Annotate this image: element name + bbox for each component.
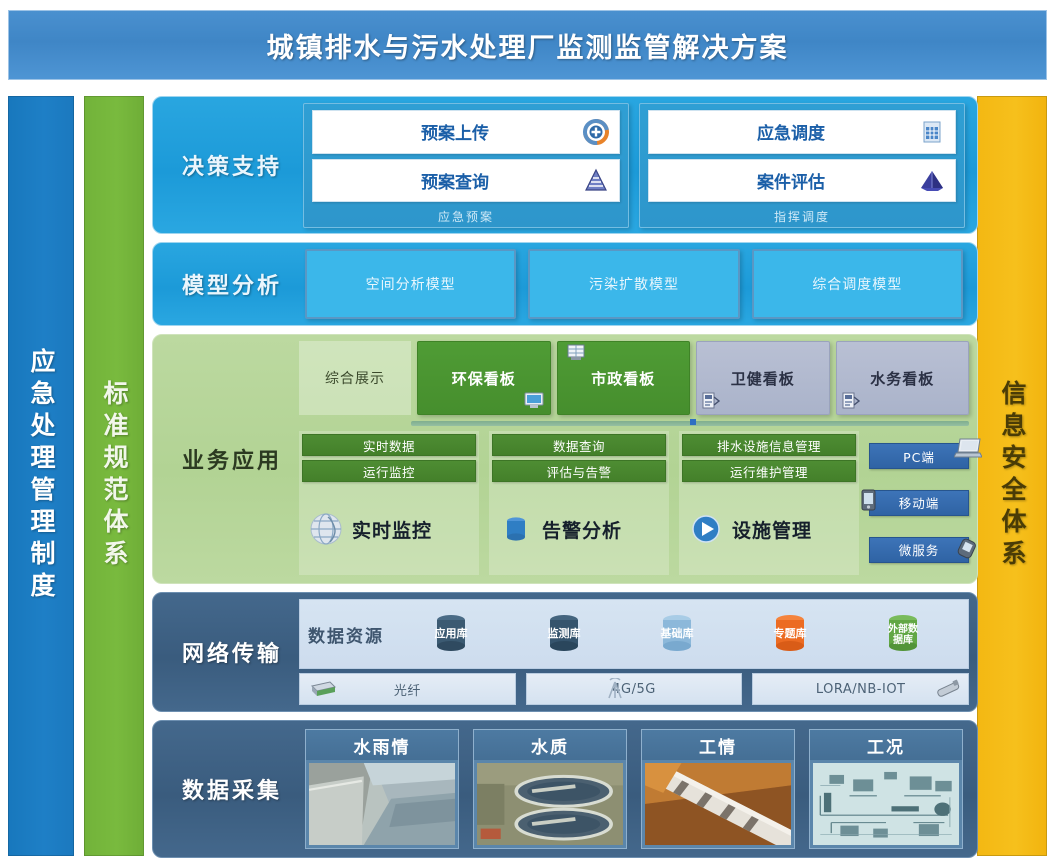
- dark-pyramid-icon: [919, 167, 945, 193]
- layer-business-application: 业务应用 综合展示 环保看板: [152, 334, 978, 584]
- business-feature-facility-management-label: 设施管理: [732, 516, 812, 543]
- decision-group-emergency-plan: 预案上传 预案查询: [303, 103, 629, 228]
- terminal-pc[interactable]: PC端: [869, 443, 969, 469]
- data-card-works-label: 工情: [642, 730, 794, 760]
- scada-diagram-photo: [813, 763, 959, 845]
- svg-text:外部数: 外部数: [887, 622, 919, 635]
- model-box-pollution-diffusion[interactable]: 污染扩散模型: [528, 249, 739, 319]
- database-basic[interactable]: 基础库: [651, 608, 703, 660]
- business-feature-realtime-monitoring[interactable]: 实时监控: [302, 486, 476, 572]
- layer-stack: 决策支持 预案上传: [152, 96, 978, 858]
- model-box-integrated-dispatch[interactable]: 综合调度模型: [752, 249, 963, 319]
- data-card-water-quality-label: 水质: [474, 730, 626, 760]
- data-card-conditions[interactable]: 工况: [809, 729, 963, 849]
- sidebar-emergency-management: 应急处理管理制度: [8, 96, 74, 856]
- business-feature-realtime-monitoring-label: 实时监控: [352, 516, 432, 543]
- board-municipal-label: 市政看板: [591, 368, 655, 389]
- decision-item-case-assessment[interactable]: 案件评估: [648, 159, 956, 203]
- business-feature-facility-management[interactable]: 设施管理: [682, 486, 856, 572]
- terminal-mobile[interactable]: 移动端: [869, 490, 969, 516]
- board-environment-label: 环保看板: [452, 368, 516, 389]
- database-monitoring[interactable]: 监测库: [538, 608, 590, 660]
- layer-data-label: 数据采集: [169, 721, 295, 857]
- layer-decision-support: 决策支持 预案上传: [152, 96, 978, 234]
- terminal-microservice[interactable]: 微服务: [869, 537, 969, 563]
- decision-item-emergency-dispatch[interactable]: 应急调度: [648, 110, 956, 154]
- sidebar-emergency-label: 应急处理管理制度: [23, 348, 59, 604]
- svg-text:监测库: 监测库: [547, 626, 580, 640]
- decision-group-command-dispatch-label: 指挥调度: [648, 207, 956, 225]
- data-card-hydrology-label: 水雨情: [306, 730, 458, 760]
- svg-text:基础库: 基础库: [659, 626, 693, 640]
- business-item-operation-maintenance[interactable]: 运行维护管理: [682, 460, 856, 482]
- layer-decision-label: 决策支持: [169, 97, 295, 233]
- divider-dot: [690, 419, 696, 425]
- board-environment[interactable]: 环保看板: [417, 341, 551, 415]
- chart-icon: [701, 392, 721, 410]
- decision-item-plan-query-label: 预案查询: [313, 168, 619, 193]
- antenna-icon: [600, 678, 630, 700]
- business-divider: [411, 421, 969, 426]
- board-health-label: 卫健看板: [731, 368, 795, 389]
- layer-data-acquisition: 数据采集 水雨情: [152, 720, 978, 858]
- database-external[interactable]: 外部数 据库: [877, 608, 929, 660]
- layer-network-label: 网络传输: [169, 593, 295, 711]
- sidebar-standard-label: 标准规范体系: [96, 380, 132, 572]
- database-icon: [496, 509, 536, 549]
- sensor-icon: [934, 678, 964, 700]
- board-municipal[interactable]: 市政看板: [557, 341, 691, 415]
- layer-model-label: 模型分析: [169, 243, 295, 325]
- business-item-data-query[interactable]: 数据查询: [492, 434, 666, 456]
- data-card-works[interactable]: 工情: [641, 729, 795, 849]
- phone-icon: [954, 536, 980, 558]
- terminal-pc-label: PC端: [903, 447, 935, 466]
- router-icon: [308, 678, 338, 700]
- data-resource-panel: 数据资源 应用库: [299, 599, 969, 669]
- sidebar-information-security: 信息安全体系: [977, 96, 1047, 856]
- business-item-drainage-facility-info[interactable]: 排水设施信息管理: [682, 434, 856, 456]
- architecture-diagram: 城镇排水与污水处理厂监测监管解决方案 应急处理管理制度 标准规范体系 信息安全体…: [0, 0, 1055, 868]
- play-icon: [686, 509, 726, 549]
- business-item-realtime-data[interactable]: 实时数据: [302, 434, 476, 456]
- layer-network-transport: 网络传输 数据资源 应用库: [152, 592, 978, 712]
- board-water-affairs[interactable]: 水务看板: [836, 341, 970, 415]
- layer-model-analysis: 模型分析 空间分析模型 污染扩散模型 综合调度模型: [152, 242, 978, 326]
- page-title-bar: 城镇排水与污水处理厂监测监管解决方案: [8, 10, 1047, 80]
- data-card-conditions-label: 工况: [810, 730, 962, 760]
- board-water-affairs-label: 水务看板: [870, 368, 934, 389]
- decision-group-command-dispatch: 应急调度 案件评估: [639, 103, 965, 228]
- decision-item-case-assessment-label: 案件评估: [649, 168, 955, 193]
- business-item-assessment-alarm[interactable]: 评估与告警: [492, 460, 666, 482]
- globe-icon: [306, 509, 346, 549]
- terminal-mobile-label: 移动端: [899, 493, 940, 512]
- page-title: 城镇排水与污水处理厂监测监管解决方案: [267, 26, 789, 65]
- model-box-spatial[interactable]: 空间分析模型: [305, 249, 516, 319]
- svg-text:应用库: 应用库: [434, 626, 467, 640]
- svg-text:专题库: 专题库: [774, 626, 807, 640]
- decision-item-plan-upload[interactable]: 预案上传: [312, 110, 620, 154]
- business-feature-alarm-analysis[interactable]: 告警分析: [492, 486, 666, 572]
- business-display-label: 综合展示: [299, 341, 411, 415]
- business-terminals: PC端 移动端: [869, 431, 969, 575]
- sidebar-security-label: 信息安全体系: [994, 380, 1030, 572]
- svg-text:据库: 据库: [893, 633, 913, 646]
- decision-item-emergency-dispatch-label: 应急调度: [649, 119, 955, 144]
- canal-photo: [309, 763, 455, 845]
- decision-group-emergency-plan-label: 应急预案: [312, 207, 620, 225]
- business-column-facility: 排水设施信息管理 运行维护管理 设施管理: [679, 431, 859, 575]
- data-card-water-quality[interactable]: 水质: [473, 729, 627, 849]
- grid-table-icon: [919, 119, 945, 145]
- pyramid-icon: [583, 167, 609, 193]
- transport-fiber-label: 光纤: [394, 680, 421, 699]
- data-card-hydrology[interactable]: 水雨情: [305, 729, 459, 849]
- business-column-monitoring: 实时数据 运行监控 实时监控: [299, 431, 479, 575]
- monitor-icon: [524, 392, 544, 410]
- sedimentation-tank-photo: [477, 763, 623, 845]
- business-column-query: 数据查询 评估与告警 告警分析: [489, 431, 669, 575]
- board-health[interactable]: 卫健看板: [696, 341, 830, 415]
- laptop-icon: [954, 436, 980, 458]
- transport-lora-nbiot[interactable]: LORA/NB-IOT: [752, 673, 969, 705]
- terminal-microservice-label: 微服务: [899, 540, 940, 559]
- sidebar-standard-system: 标准规范体系: [84, 96, 144, 856]
- database-application[interactable]: 应用库: [425, 608, 477, 660]
- decision-item-plan-query[interactable]: 预案查询: [312, 159, 620, 203]
- transport-lora-nbiot-label: LORA/NB-IOT: [816, 682, 906, 697]
- database-thematic[interactable]: 专题库: [764, 608, 816, 660]
- decision-item-plan-upload-label: 预案上传: [313, 119, 619, 144]
- chart-icon: [841, 392, 861, 410]
- data-resource-label: 数据资源: [308, 622, 384, 647]
- mobile-icon: [856, 488, 882, 510]
- window-icon: [566, 344, 586, 362]
- transport-4g5g[interactable]: 4G/5G: [526, 673, 743, 705]
- pipeline-trench-photo: [645, 763, 791, 845]
- cycle-gear-icon: [583, 119, 609, 145]
- business-feature-alarm-analysis-label: 告警分析: [542, 516, 622, 543]
- transport-fiber[interactable]: 光纤: [299, 673, 516, 705]
- business-item-operation-monitoring[interactable]: 运行监控: [302, 460, 476, 482]
- layer-business-label: 业务应用: [169, 335, 295, 583]
